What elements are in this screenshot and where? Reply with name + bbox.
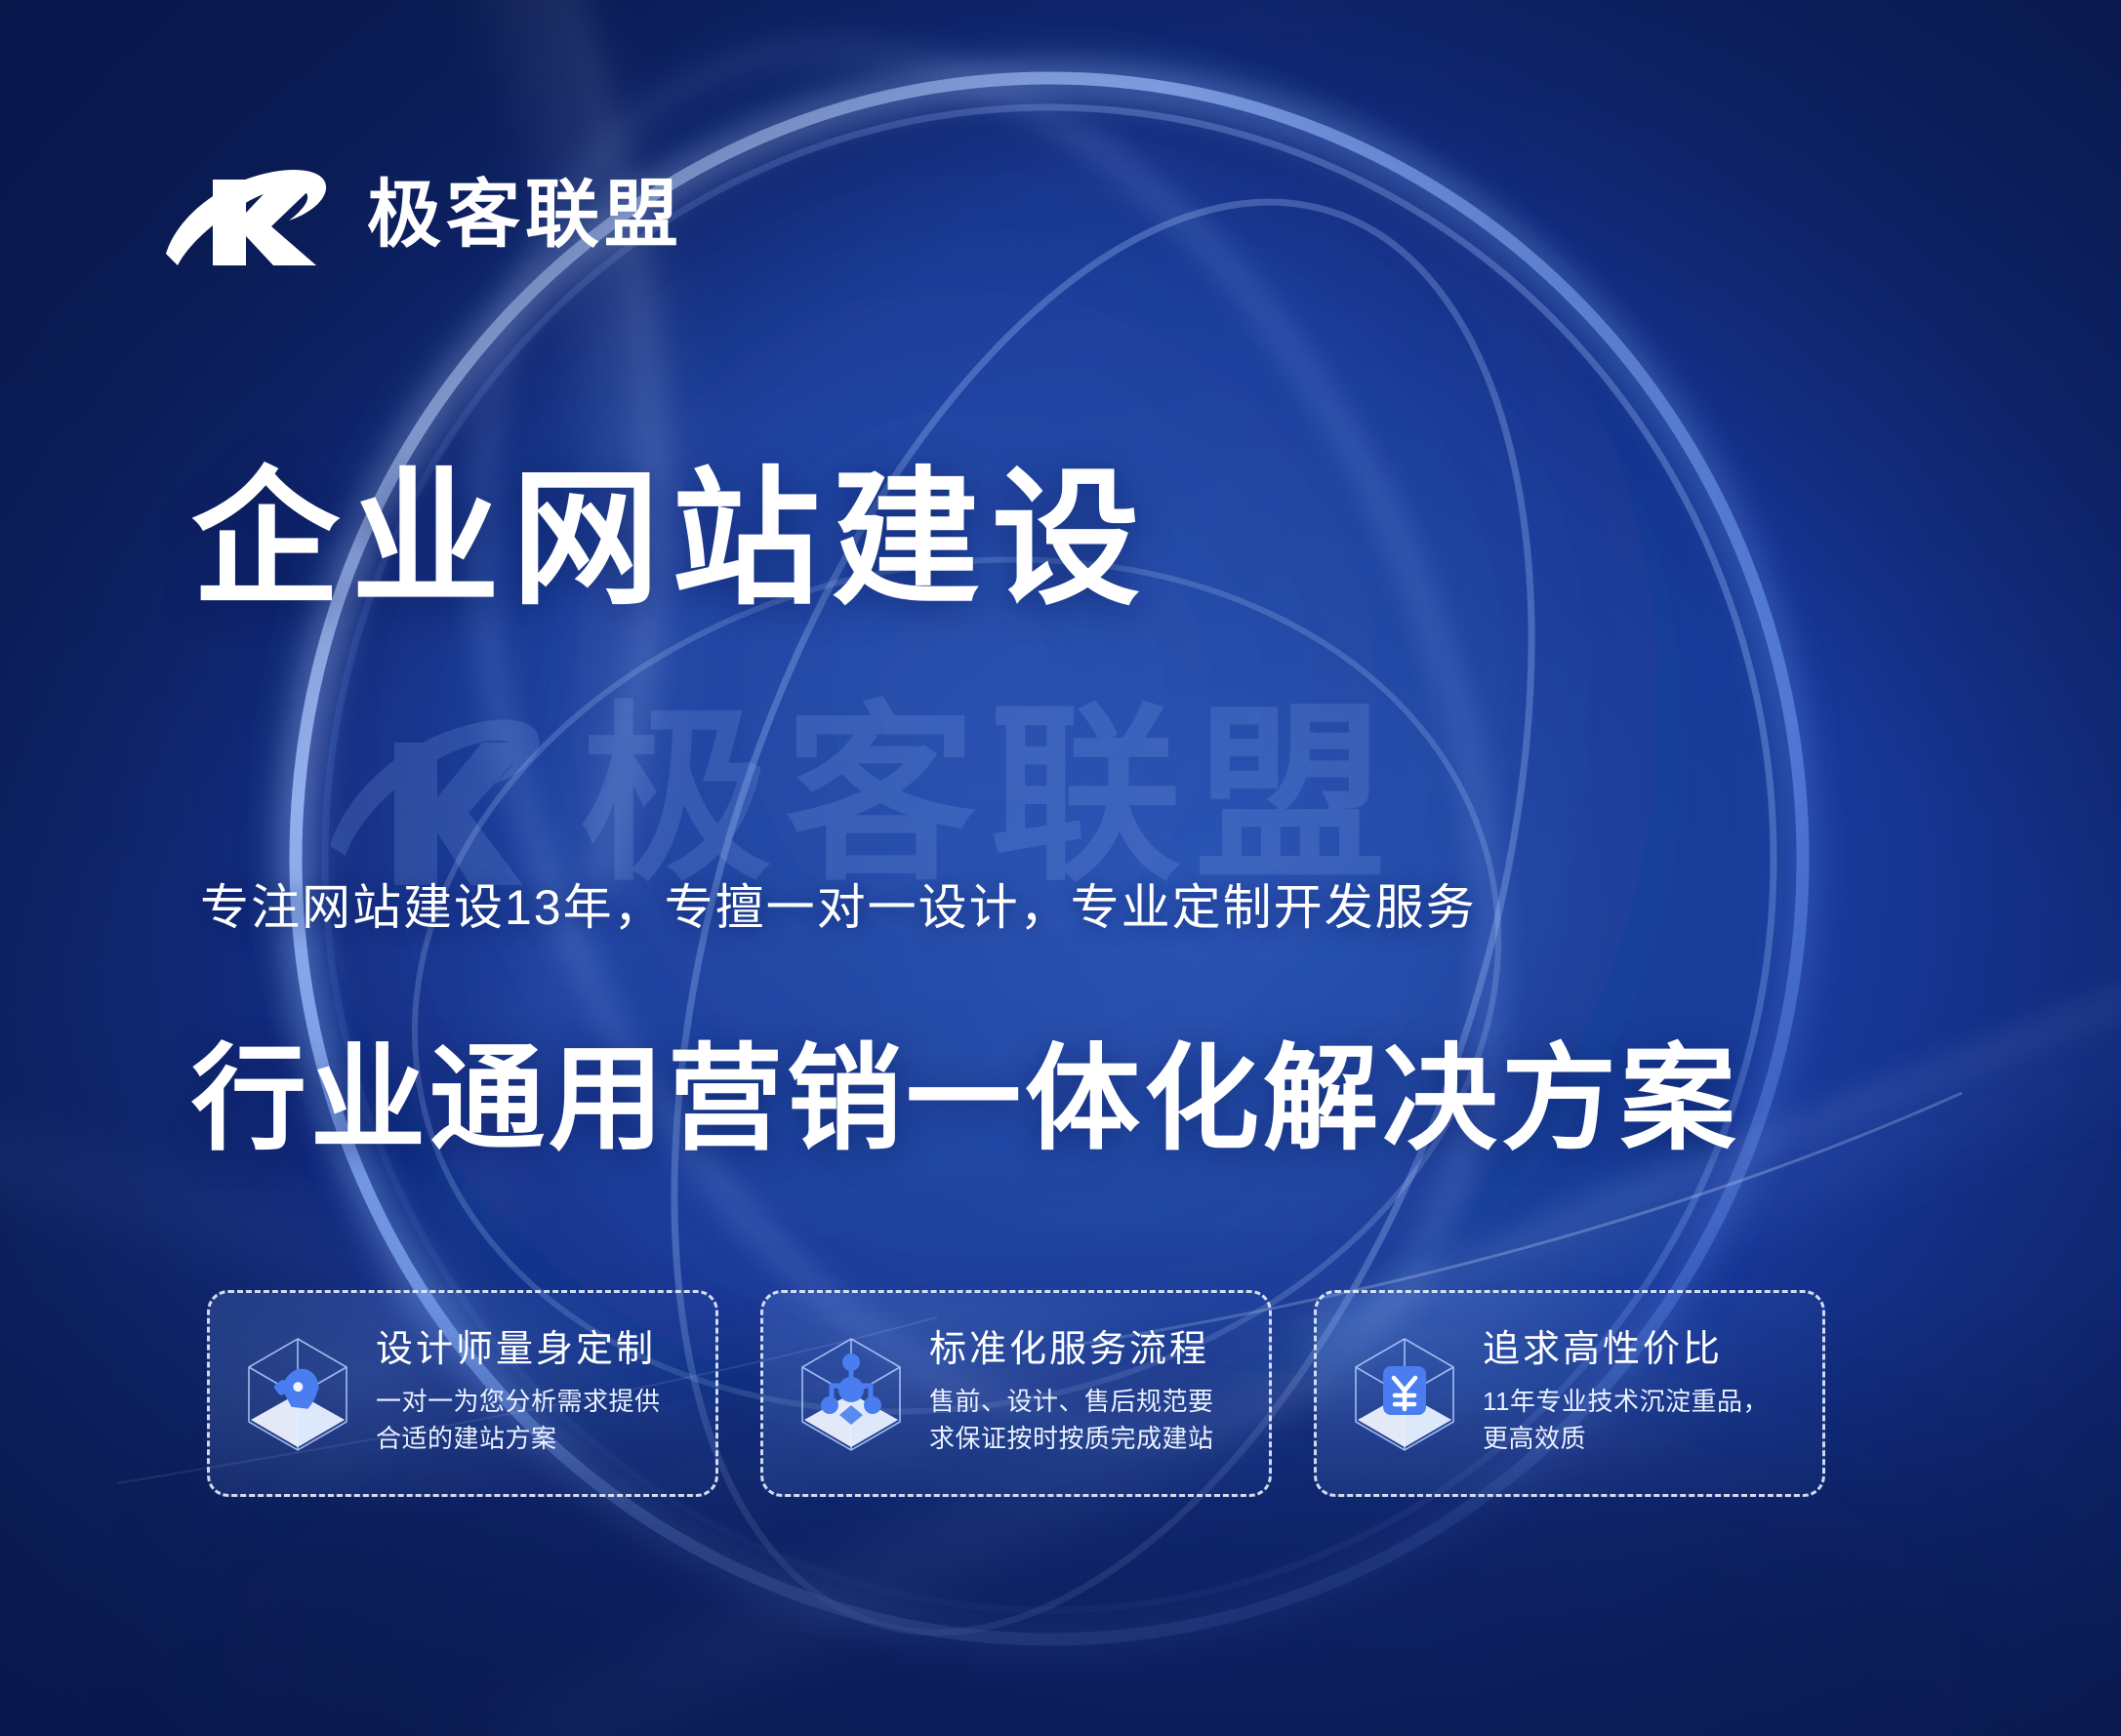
hero-subtitle: 专注网站建设13年，专擅一对一设计，专业定制开发服务 (200, 868, 1477, 939)
feature-card-list: 设计师量身定制 一对一为您分析需求提供合适的建站方案 (207, 1290, 1825, 1497)
feature-card-standard-process[interactable]: 标准化服务流程 售前、设计、售后规范要求保证按时按质完成建站 (760, 1290, 1272, 1497)
feature-card-desc: 一对一为您分析需求提供合适的建站方案 (376, 1384, 678, 1457)
feature-card-title: 追求高性价比 (1483, 1329, 1785, 1372)
feature-card-text: 设计师量身定制 一对一为您分析需求提供合适的建站方案 (376, 1329, 678, 1457)
feature-card-desc: 售前、设计、售后规范要求保证按时按质完成建站 (929, 1384, 1232, 1457)
feature-card-cost-effective[interactable]: 追求高性价比 11年专业技术沉淀重品，更高效质 (1314, 1290, 1825, 1497)
cube-network-nodes-icon (791, 1329, 912, 1458)
brand-logo[interactable]: 极客联盟 (164, 164, 683, 267)
brand-name: 极客联盟 (367, 179, 683, 253)
cube-yuan-icon (1344, 1329, 1465, 1458)
feature-card-text: 标准化服务流程 售前、设计、售后规范要求保证按时按质完成建站 (929, 1329, 1232, 1457)
page-title: 企业网站建设 (191, 455, 1152, 626)
feature-card-designer-custom[interactable]: 设计师量身定制 一对一为您分析需求提供合适的建站方案 (207, 1290, 718, 1497)
banner-content: 极客联盟 企业网站建设 专注网站建设13年，专擅一对一设计，专业定制开发服务 行… (0, 0, 2121, 1736)
promo-banner: 极客联盟 极客联盟 企业网站建设 专注网站建设13年，专擅一对一设计，专业定制开… (0, 0, 2121, 1736)
feature-card-title: 标准化服务流程 (929, 1329, 1232, 1372)
feature-card-desc: 11年专业技术沉淀重品，更高效质 (1483, 1384, 1785, 1457)
cube-rocket-icon (237, 1329, 358, 1458)
feature-card-title: 设计师量身定制 (376, 1329, 678, 1372)
k-swoosh-logo-icon (164, 164, 340, 267)
feature-card-text: 追求高性价比 11年专业技术沉淀重品，更高效质 (1483, 1329, 1785, 1457)
hero-secondary-title: 行业通用营销一体化解决方案 (191, 1005, 1739, 1172)
